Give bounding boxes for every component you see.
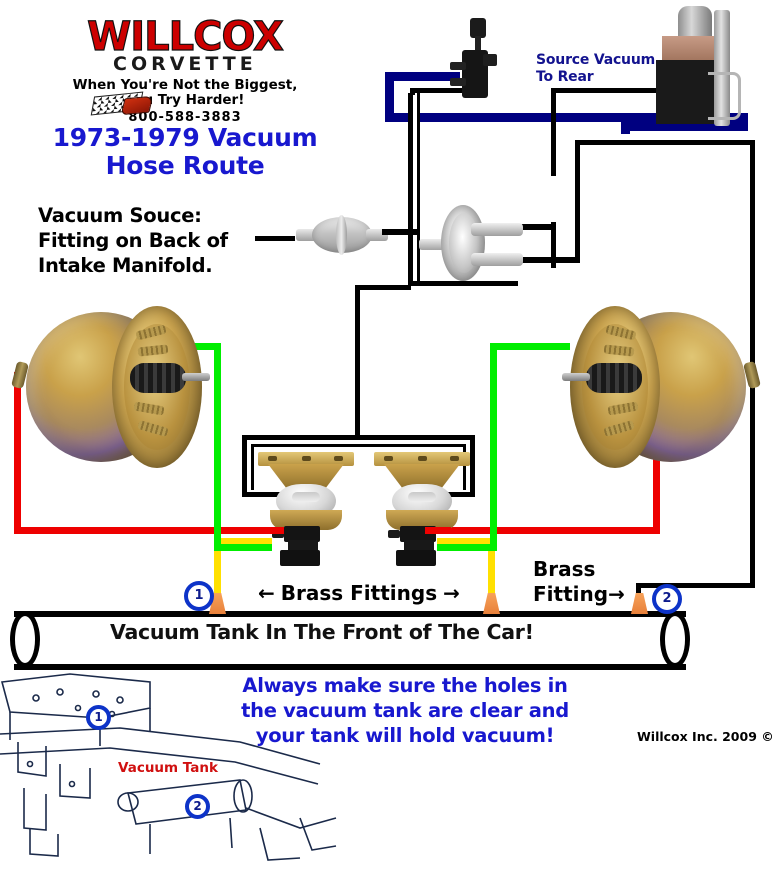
red-hose-left-vertical — [14, 372, 21, 534]
actuator-right-bracket-hole-2 — [418, 456, 427, 461]
copyright-text: Willcox Inc. 2009 © — [637, 729, 774, 744]
black-hose-actuator-right-vert — [470, 435, 475, 497]
page-title-line2: Hose Route — [40, 152, 330, 180]
page-title: 1973-1979 Vacuum Hose Route — [40, 124, 330, 180]
source-note-leader-line — [255, 236, 295, 241]
actuator-right-bracket-hole-3 — [450, 456, 459, 461]
black-hose-left-rail-bottom — [408, 281, 518, 286]
diaphragm-tube-lower — [471, 253, 523, 266]
brass-fitting-3 — [631, 593, 648, 614]
source-vacuum-to-rear-line1: Source Vacuum — [536, 52, 655, 69]
relay-port-lower — [450, 78, 466, 86]
black-hose-actuator-top-inner — [251, 444, 466, 447]
red-hose-right-bottom — [443, 527, 660, 534]
booster-left-pushrod — [182, 373, 210, 381]
actuator-left-slot — [292, 492, 320, 502]
vacuum-canister-assembly — [652, 4, 752, 132]
actuator-right-bracket-hole-1 — [384, 456, 393, 461]
brass-fitting-label-line1: Brass — [533, 557, 625, 582]
black-hose-center-down — [355, 287, 360, 437]
diaphragm-tube-upper — [471, 223, 523, 236]
relay-cap — [470, 18, 486, 38]
green-hose-right-from-booster — [490, 343, 570, 350]
vacuum-source-note-line3: Intake Manifold. — [38, 253, 288, 278]
brass-fittings-label: Brass Fittings — [275, 581, 443, 605]
logo-tagline-line1: When You're Not the Biggest, — [65, 78, 305, 93]
black-hose-right-rail-upper — [551, 88, 556, 176]
page-title-line1: 1973-1979 Vacuum — [40, 124, 330, 152]
vacuum-source-note-line1: Vacuum Souce: — [38, 203, 288, 228]
vacuum-source-note-line2: Fitting on Back of — [38, 228, 288, 253]
brake-booster-left — [26, 300, 206, 475]
black-hose-far-right-top — [575, 140, 755, 145]
black-hose-far-right-stub — [575, 140, 580, 170]
actuator-right-tab — [388, 530, 400, 538]
marker-1-tank: 1 — [184, 581, 214, 611]
navy-hose-seg-canister-stub — [621, 122, 630, 134]
vacuum-check-valve — [296, 215, 388, 255]
red-flag-icon — [121, 96, 154, 115]
brass-fitting-label-group: Brass Fitting→ — [533, 557, 625, 607]
vacuum-relay-valve — [450, 18, 504, 100]
logo-brand-text: WILLCOX — [65, 18, 305, 56]
booster-right-pushrod — [562, 373, 590, 381]
logo-sub-text: CORVETTE — [65, 54, 305, 74]
red-stub-actuator-left — [258, 527, 284, 534]
marker-2-photo: 2 — [185, 794, 210, 819]
vacuum-tank-label: Vacuum Tank In The Front of The Car! — [110, 620, 534, 644]
arrow-right-icon-2: → — [608, 582, 625, 606]
black-hose-actuator-left-inner — [251, 444, 254, 490]
black-hose-actuator-left-vert — [242, 435, 247, 497]
willcox-corvette-logo: WILLCOX CORVETTE When You're Not the Big… — [65, 18, 305, 98]
actuator-left-bracket-hole-3 — [334, 456, 343, 461]
brass-fitting-label-line2: Fitting — [533, 582, 608, 606]
vacuum-tank-left-cap — [10, 611, 40, 668]
marker-2-tank: 2 — [652, 584, 682, 614]
black-hose-far-right-bottom — [636, 583, 755, 588]
actuator-left-bracket-hole-2 — [302, 456, 311, 461]
source-vacuum-to-rear-line2: To Rear — [536, 69, 655, 86]
actuator-left-bracket-hole-1 — [268, 456, 277, 461]
brake-booster-right — [566, 300, 746, 475]
vacuum-diaphragm-actuator — [415, 205, 525, 281]
brass-fitting-2 — [483, 593, 500, 614]
brass-fittings-label-group: ←Brass Fittings→ — [258, 581, 460, 605]
vacuum-hose-route-diagram: WILLCOX CORVETTE When You're Not the Big… — [0, 0, 780, 869]
headlight-actuator-left — [258, 452, 354, 570]
black-hose-actuator-top — [242, 435, 475, 440]
arrow-left-icon: ← — [258, 581, 275, 605]
booster-left-boot — [130, 363, 186, 393]
vacuum-tank-right-cap — [660, 611, 690, 668]
source-vacuum-to-rear-label: Source Vacuum To Rear — [536, 52, 655, 86]
black-hose-diaphragm-b-up — [575, 170, 580, 263]
red-hose-left-bottom — [14, 527, 266, 534]
arrow-right-icon: → — [443, 581, 460, 605]
vacuum-tank-photo-label: Vacuum Tank — [118, 760, 218, 776]
green-hose-right-vertical — [490, 343, 497, 551]
red-stub-actuator-right — [425, 527, 451, 534]
headlight-actuator-right — [374, 452, 470, 570]
relay-port-upper — [450, 62, 466, 70]
actuator-left-block-3 — [280, 550, 320, 566]
actuator-right-block-3 — [396, 550, 436, 566]
canister-clip — [708, 72, 741, 120]
navy-hose-seg-top-left — [385, 72, 460, 81]
booster-right-boot — [586, 363, 642, 393]
check-valve-ring — [336, 215, 347, 255]
green-hose-left-vertical — [214, 343, 221, 551]
actuator-right-slot — [408, 492, 436, 502]
relay-ear — [483, 54, 497, 66]
vacuum-source-note: Vacuum Souce: Fitting on Back of Intake … — [38, 203, 288, 278]
marker-1-photo: 1 — [86, 705, 111, 730]
black-hose-center-joint — [355, 285, 411, 290]
